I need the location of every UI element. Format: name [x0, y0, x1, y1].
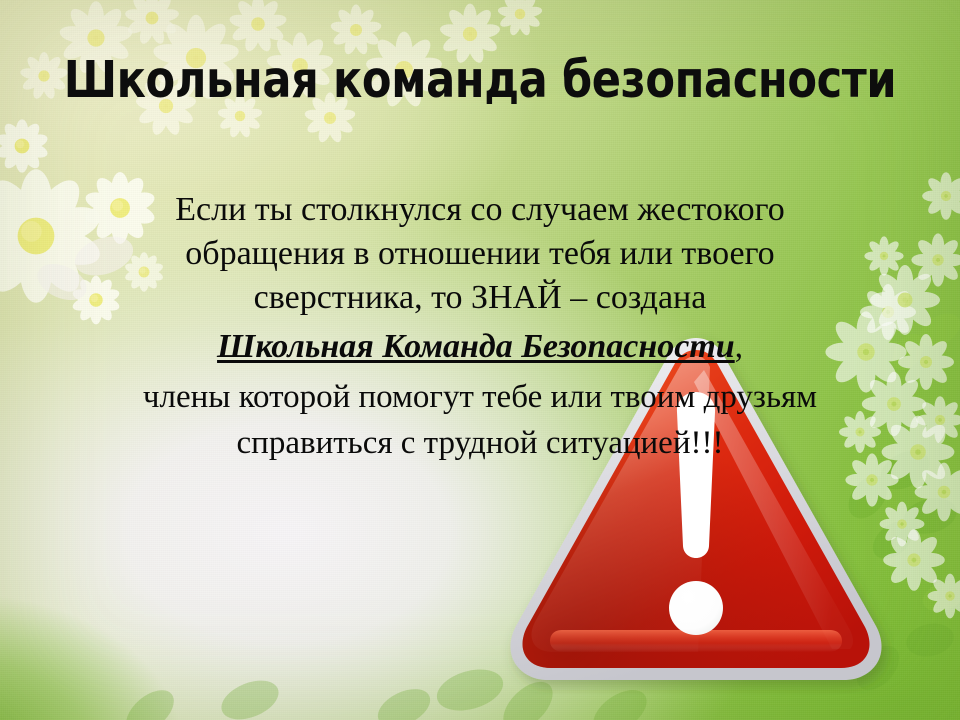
team-name-comma: , [735, 329, 743, 365]
body-line-6: справиться с трудной ситуацией!!! [28, 420, 932, 466]
slide-body-text: Если ты столкнулся со случаем жестокого … [28, 188, 932, 466]
body-line-2: обращения в отношении тебя или твоего [28, 232, 932, 276]
body-line-1: Если ты столкнулся со случаем жестокого [28, 188, 932, 232]
page-title: Школьная команда безопасности [29, 52, 931, 110]
presentation-slide: Школьная команда безопасности Если ты ст… [0, 0, 960, 720]
body-line-3: сверстника, то ЗНАЙ – создана [28, 276, 932, 320]
body-line-5: члены которой помогут тебе или твоим дру… [28, 374, 932, 420]
body-line-4: Школьная Команда Безопасности, [28, 320, 932, 374]
team-name-emphasis: Школьная Команда Безопасности [217, 328, 735, 365]
